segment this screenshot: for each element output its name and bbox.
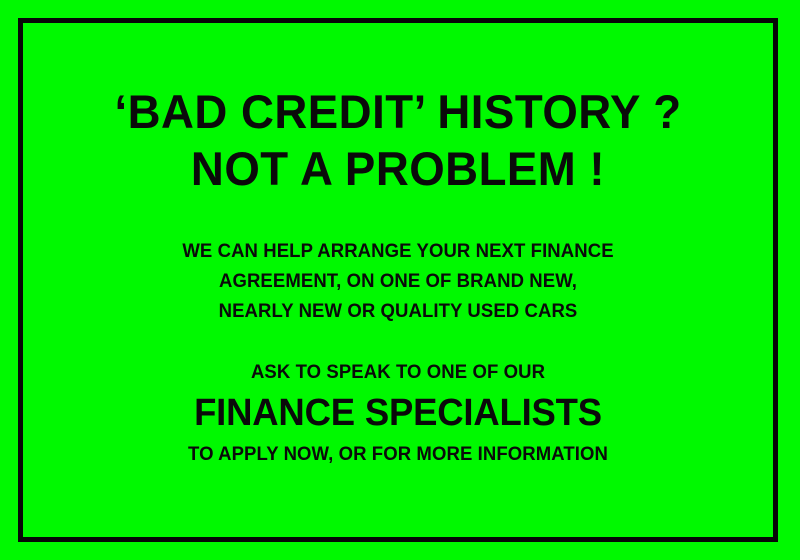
body-line-1: WE CAN HELP ARRANGE YOUR NEXT FINANCE bbox=[42, 236, 755, 266]
headline-line-2: NOT A PROBLEM ! bbox=[34, 142, 762, 196]
body-line-3: NEARLY NEW OR QUALITY USED CARS bbox=[42, 296, 755, 326]
poster-content: ‘BAD CREDIT’ HISTORY ? NOT A PROBLEM ! W… bbox=[23, 23, 773, 537]
headline-block: ‘BAD CREDIT’ HISTORY ? NOT A PROBLEM ! bbox=[23, 85, 773, 196]
cta-lead-in-text: ASK TO SPEAK TO ONE OF OUR bbox=[42, 359, 755, 385]
cta-emphasis-text: FINANCE SPECIALISTS bbox=[38, 389, 758, 437]
headline-line-1: ‘BAD CREDIT’ HISTORY ? bbox=[34, 85, 762, 139]
body-line-2: AGREEMENT, ON ONE OF BRAND NEW, bbox=[42, 266, 755, 296]
advertisement-poster: ‘BAD CREDIT’ HISTORY ? NOT A PROBLEM ! W… bbox=[0, 0, 800, 560]
body-paragraph: WE CAN HELP ARRANGE YOUR NEXT FINANCE AG… bbox=[23, 236, 773, 326]
poster-border-frame: ‘BAD CREDIT’ HISTORY ? NOT A PROBLEM ! W… bbox=[18, 18, 778, 542]
call-to-action-block: ASK TO SPEAK TO ONE OF OUR FINANCE SPECI… bbox=[23, 359, 773, 467]
cta-footer-text: TO APPLY NOW, OR FOR MORE INFORMATION bbox=[42, 441, 755, 467]
